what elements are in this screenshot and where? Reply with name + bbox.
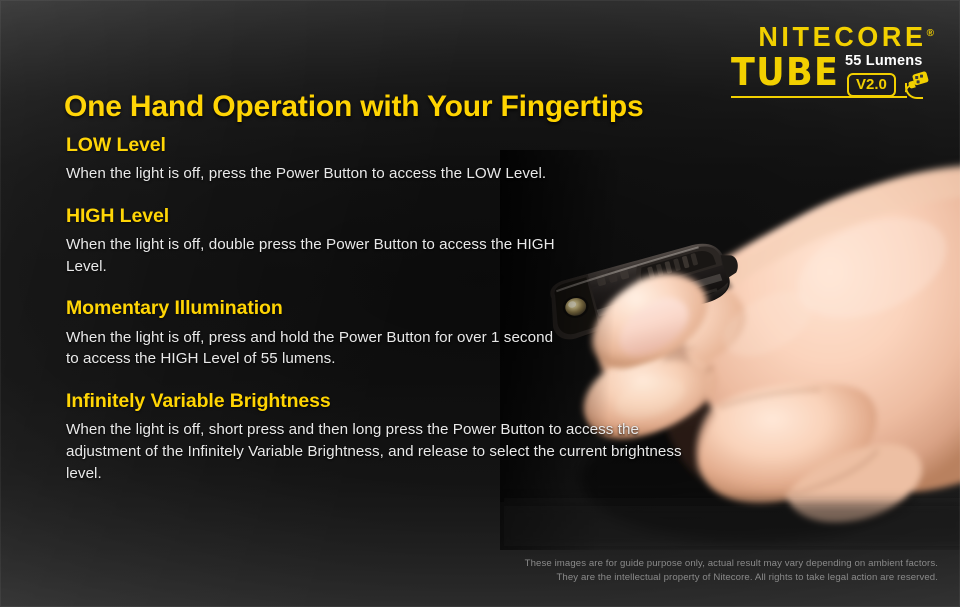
disclaimer-line-2: They are the intellectual property of Ni… [525, 571, 938, 585]
brand-product-row: TUBE 55 Lumens V2.0 [719, 53, 934, 97]
logo-underline [731, 96, 907, 98]
section-heading: LOW Level [66, 133, 706, 157]
section-heading: Infinitely Variable Brightness [66, 389, 706, 413]
disclaimer: These images are for guide purpose only,… [525, 557, 938, 585]
section-body: When the light is off, double press the … [66, 234, 561, 277]
section-body: When the light is off, press the Power B… [66, 163, 696, 185]
instruction-sections: LOW Level When the light is off, press t… [66, 133, 706, 503]
lumens-label: 55 Lumens [845, 54, 923, 69]
page-title: One Hand Operation with Your Fingertips [64, 90, 643, 123]
section-body: When the light is off, short press and t… [66, 419, 684, 484]
section-heading: Momentary Illumination [66, 296, 706, 320]
usb-plug-icon [905, 70, 931, 94]
section-momentary-illumination: Momentary Illumination When the light is… [66, 296, 706, 370]
product-name: TUBE [731, 53, 839, 91]
brand-name: NITECORE® [719, 24, 934, 52]
section-heading: HIGH Level [66, 204, 706, 228]
disclaimer-line-1: These images are for guide purpose only,… [525, 557, 938, 571]
brand-logo: NITECORE® TUBE 55 Lumens V2.0 [719, 24, 934, 97]
section-high-level: HIGH Level When the light is off, double… [66, 204, 706, 278]
version-badge: V2.0 [847, 73, 896, 97]
section-low-level: LOW Level When the light is off, press t… [66, 133, 706, 185]
section-body: When the light is off, press and hold th… [66, 327, 561, 370]
brand-name-text: NITECORE [758, 22, 926, 53]
registered-trademark-icon: ® [927, 28, 934, 39]
section-infinitely-variable-brightness: Infinitely Variable Brightness When the … [66, 389, 706, 484]
promo-slide: NITECORE® TUBE 55 Lumens V2.0 [0, 0, 960, 607]
